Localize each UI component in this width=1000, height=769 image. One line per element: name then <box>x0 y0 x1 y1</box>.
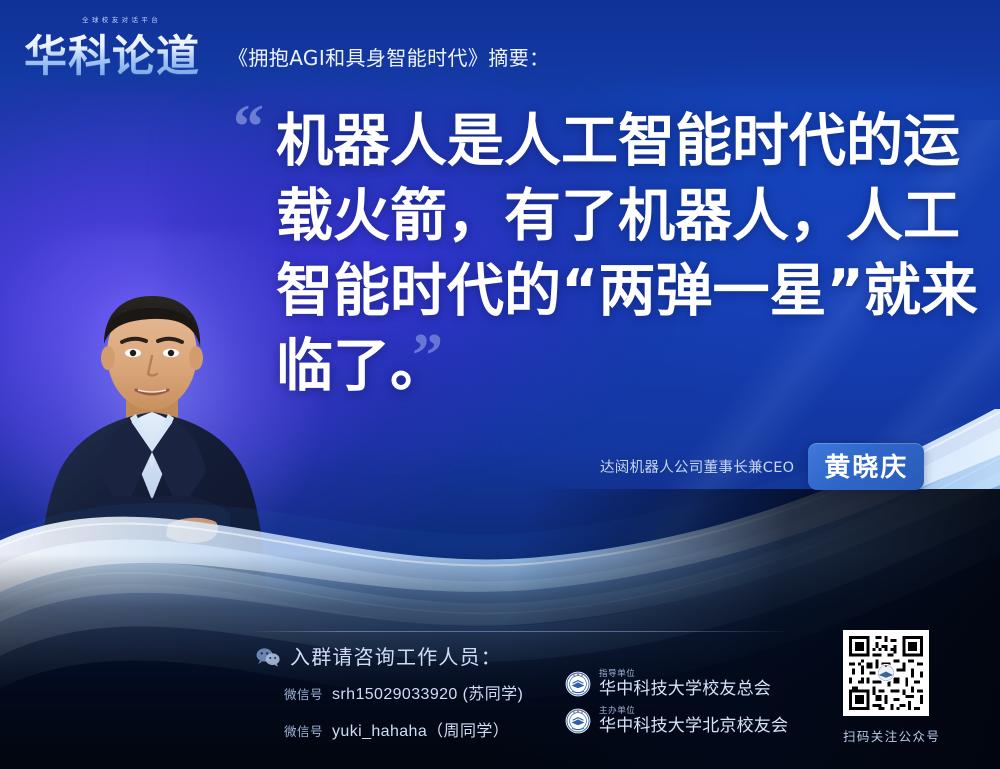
qr-code[interactable] <box>843 630 929 716</box>
brand-logo[interactable]: 全球校友对话平台 华科论道 <box>24 14 216 76</box>
logo-wordmark: 华科论道 <box>24 22 200 84</box>
wechat-id[interactable]: yuki_hahaha（周同学） <box>332 717 509 741</box>
organization-name: 华中科技大学校友总会 <box>599 681 771 698</box>
university-seal-icon <box>565 708 591 734</box>
quote-close-mark: ” <box>412 325 441 387</box>
attribution: 达闼机器人公司董事长兼CEO 黄晓庆 <box>600 443 924 490</box>
wechat-label: 微信号 <box>284 684 323 703</box>
qr-caption: 扫码关注公众号 <box>843 726 929 745</box>
organization-row: 主办单位 华中科技大学北京校友会 <box>565 707 788 735</box>
footer-divider <box>255 631 785 632</box>
contact-row: 微信号 srh15029033920 (苏同学) <box>284 680 523 704</box>
organization-kind: 指导单位 <box>599 670 771 679</box>
contact-row: 微信号 yuki_hahaha（周同学） <box>284 717 509 741</box>
wechat-id[interactable]: srh15029033920 (苏同学) <box>332 680 523 704</box>
speaker-role: 达闼机器人公司董事长兼CEO <box>600 456 794 477</box>
quote-line: 临了。 <box>276 329 956 404</box>
speaker-name-badge: 黄晓庆 <box>808 443 924 490</box>
poster-canvas: 全球校友对话平台 华科论道 《拥抱AGI和具身智能时代》摘要： “ 机器人是人工… <box>0 0 1000 769</box>
university-seal-icon <box>565 671 591 697</box>
quote-line: 载火箭，有了机器人，人工 <box>276 179 956 254</box>
quote-open-mark: “ <box>233 96 262 158</box>
join-instruction: 入群请咨询工作人员： <box>290 641 502 670</box>
qr-section: 扫码关注公众号 <box>843 630 929 745</box>
organization-kind: 主办单位 <box>599 707 788 716</box>
header: 全球校友对话平台 华科论道 《拥抱AGI和具身智能时代》摘要： <box>0 0 1000 92</box>
organization-row: 指导单位 华中科技大学校友总会 <box>565 670 771 698</box>
quote-line: 智能时代的“两弹一星”就来 <box>276 254 956 329</box>
page-title: 《拥抱AGI和具身智能时代》摘要： <box>228 42 550 71</box>
organization-name: 华中科技大学北京校友会 <box>599 718 788 735</box>
quote-text: 机器人是人工智能时代的运 载火箭，有了机器人，人工 智能时代的“两弹一星”就来 … <box>276 104 956 404</box>
wechat-label: 微信号 <box>284 721 323 740</box>
wechat-icon <box>255 646 281 668</box>
quote-line: 机器人是人工智能时代的运 <box>276 104 956 179</box>
